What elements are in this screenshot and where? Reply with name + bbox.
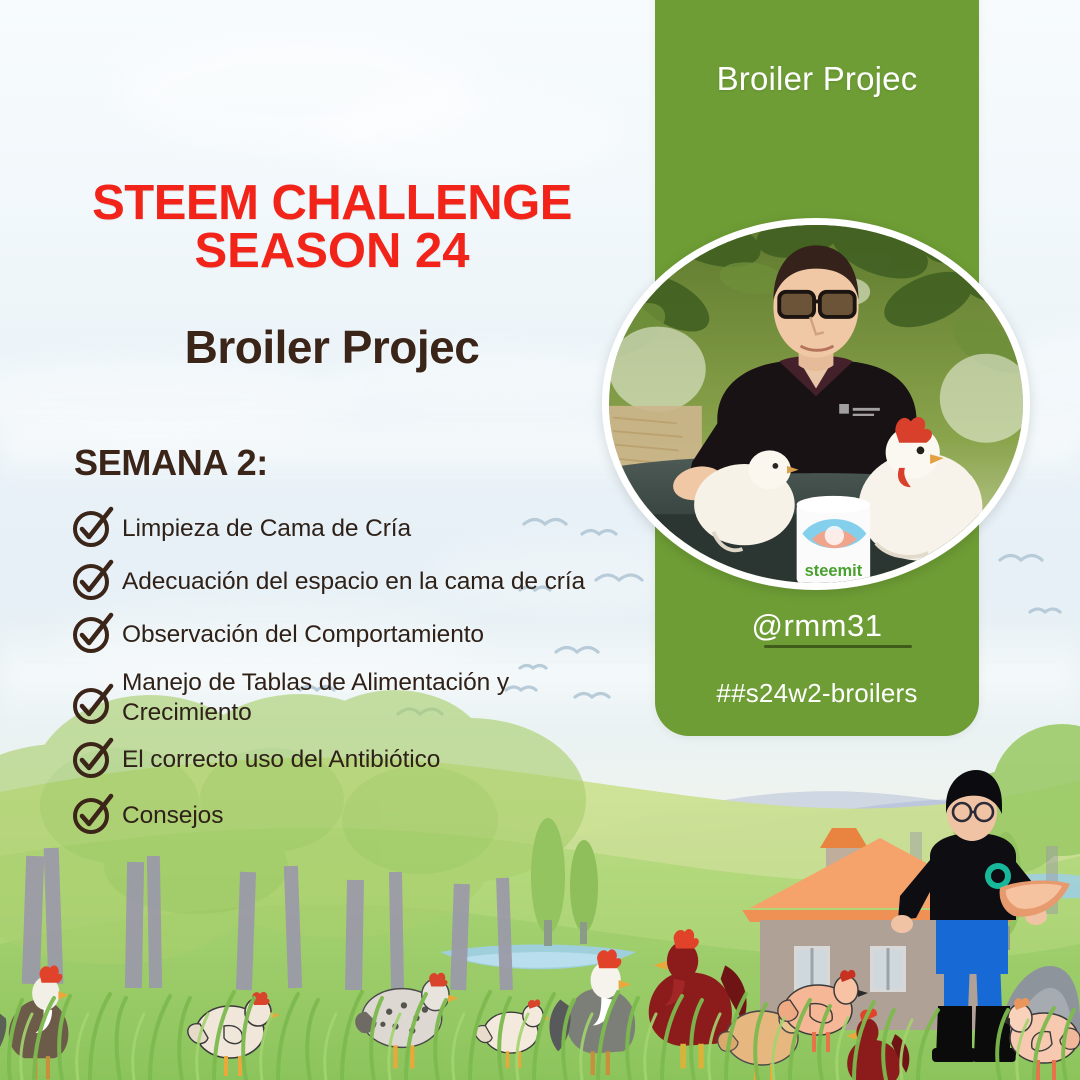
list-item: El correcto uso del Antibiótico: [70, 739, 640, 781]
avatar-photo: steemit: [609, 225, 1023, 583]
headline-line-1: STEEM CHALLENGE: [72, 180, 592, 228]
author-handle[interactable]: @rmm31: [655, 608, 979, 644]
check-circle-icon: [70, 504, 116, 550]
check-circle-icon: [70, 557, 116, 603]
hashtag-label[interactable]: ##s24w2-broilers: [655, 678, 979, 709]
list-item-label: Consejos: [122, 795, 223, 831]
list-item-label: Adecuación del espacio en la cama de crí…: [122, 561, 585, 597]
handle-underline: [764, 645, 912, 648]
left-content-column: STEEM CHALLENGE SEASON 24 Broiler Projec…: [0, 0, 640, 1080]
avatar-photo-frame: steemit: [602, 218, 1030, 590]
list-item-label: El correcto uso del Antibiótico: [122, 739, 440, 775]
list-item: Adecuación del espacio en la cama de crí…: [70, 561, 640, 603]
svg-text:steemit: steemit: [805, 562, 863, 580]
check-circle-icon: [70, 791, 116, 837]
list-item: Consejos: [70, 795, 640, 837]
headline: STEEM CHALLENGE SEASON 24: [72, 180, 592, 275]
list-item: Observación del Comportamiento: [70, 614, 640, 656]
list-item: Manejo de Tablas de Alimentación y Creci…: [70, 667, 640, 728]
checklist: Limpieza de Cama de Cría Adecuación del …: [70, 508, 640, 848]
headline-subtitle: Broiler Projec: [72, 320, 592, 374]
week-label: SEMANA 2:: [74, 442, 268, 484]
headline-line-2: SEASON 24: [72, 228, 592, 276]
list-item-label: Manejo de Tablas de Alimentación y Creci…: [122, 667, 552, 728]
check-circle-icon: [70, 610, 116, 656]
poster-canvas: Broiler Projec: [0, 0, 1080, 1080]
list-item-label: Limpieza de Cama de Cría: [122, 508, 411, 544]
check-circle-icon: [70, 735, 116, 781]
list-item-label: Observación del Comportamiento: [122, 614, 484, 650]
panel-title: Broiler Projec: [655, 60, 979, 98]
check-circle-icon: [70, 681, 116, 727]
list-item: Limpieza de Cama de Cría: [70, 508, 640, 550]
avatar: steemit: [602, 218, 1030, 590]
